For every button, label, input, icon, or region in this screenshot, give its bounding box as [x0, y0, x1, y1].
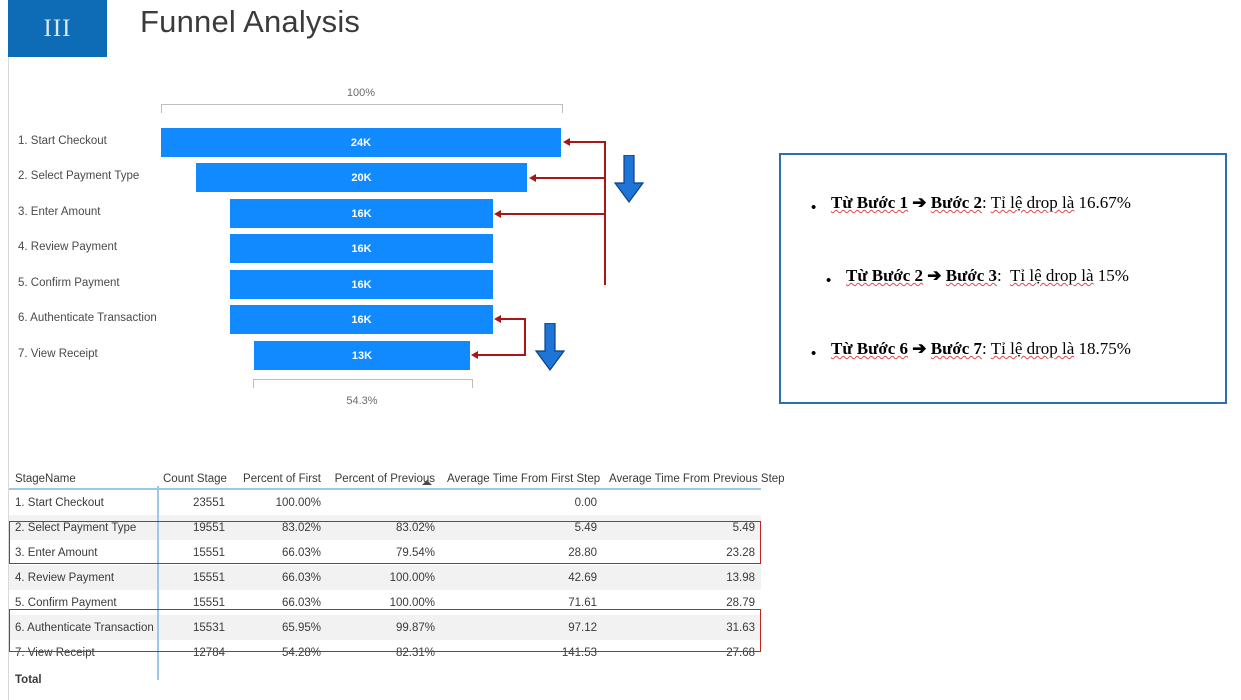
cell-avg-prev: 31.63: [603, 615, 761, 640]
table-row[interactable]: 3. Enter Amount 15551 66.03% 79.54% 28.8…: [9, 540, 761, 565]
insights-callout-box: • Từ Bước 1 ➔ Bước 2: Tỉ lệ drop là 16.6…: [779, 153, 1227, 404]
funnel-stage-label-3: 3. Enter Amount: [18, 206, 100, 218]
cell-avg-first: 141.53: [441, 640, 603, 665]
cell-avg-first: 5.49: [441, 515, 603, 540]
slide-number-label: III: [44, 15, 72, 43]
funnel-bar-value-6: 16K: [351, 314, 371, 326]
cell-total-count: [157, 665, 231, 694]
cell-pct-prev: 79.54%: [327, 540, 441, 565]
funnel-bar-value-7: 13K: [352, 350, 372, 362]
cell-pct-prev: 83.02%: [327, 515, 441, 540]
cell-total-avg-first: [441, 665, 603, 694]
cell-pct-prev: 100.00%: [327, 590, 441, 615]
cell-avg-first: 97.12: [441, 615, 603, 640]
cell-total-pct-prev: [327, 665, 441, 694]
funnel-bar-5[interactable]: 16K: [230, 270, 493, 299]
cell-count: 19551: [157, 515, 231, 540]
funnel-bar-1[interactable]: 24K: [161, 128, 561, 157]
cell-stage: 7. View Receipt: [9, 640, 157, 665]
cell-avg-prev: 27.68: [603, 640, 761, 665]
annotation-arrow-bar-6: [494, 315, 501, 323]
annotation-bracket-2-bot-arm: [478, 354, 526, 356]
funnel-detail-table[interactable]: StageName Count Stage Percent of First P…: [9, 458, 761, 688]
cell-pct-first: 65.95%: [231, 615, 327, 640]
callout-item-2-from: Từ Bước 2: [846, 266, 923, 285]
cell-stage: 3. Enter Amount: [9, 540, 157, 565]
page-title: Funnel Analysis: [140, 4, 360, 40]
callout-item-2-value: 15%: [1098, 266, 1129, 285]
cell-stage: 6. Authenticate Transaction: [9, 615, 157, 640]
cell-total-avg-prev: [603, 665, 761, 694]
cell-pct-first: 83.02%: [231, 515, 327, 540]
funnel-bar-value-3: 16K: [351, 208, 371, 220]
annotation-bracket-1-top-arm: [570, 141, 606, 143]
callout-item-1-from: Từ Bước 1: [831, 193, 908, 212]
annotation-bracket-2-vertical: [524, 319, 526, 356]
table-total-row: Total: [9, 665, 761, 694]
funnel-bar-6[interactable]: 16K: [230, 305, 493, 334]
cell-pct-first: 100.00%: [231, 489, 327, 515]
table-row[interactable]: 4. Review Payment 15551 66.03% 100.00% 4…: [9, 565, 761, 590]
funnel-bottom-measure-label: 54.3%: [253, 395, 471, 407]
funnel-bar-2[interactable]: 20K: [196, 163, 527, 192]
funnel-stage-label-5: 5. Confirm Payment: [18, 277, 120, 289]
callout-item-3-arrow: ➔: [912, 339, 926, 358]
callout-item-2-arrow: ➔: [927, 266, 941, 285]
cell-pct-first: 66.03%: [231, 565, 327, 590]
table-row[interactable]: 5. Confirm Payment 15551 66.03% 100.00% …: [9, 590, 761, 615]
table-column-divider: [157, 486, 159, 680]
stage-metrics-table: StageName Count Stage Percent of First P…: [9, 458, 761, 694]
funnel-top-measure-label: 100%: [161, 87, 561, 99]
cell-pct-prev: 99.87%: [327, 615, 441, 640]
annotation-bracket-1-bot-arm: [501, 213, 606, 215]
cell-pct-prev: 82.31%: [327, 640, 441, 665]
table-row[interactable]: 6. Authenticate Transaction 15531 65.95%…: [9, 615, 761, 640]
cell-pct-first: 66.03%: [231, 540, 327, 565]
funnel-bar-3[interactable]: 16K: [230, 199, 493, 228]
blue-down-arrow-1: [613, 155, 645, 204]
cell-stage: 5. Confirm Payment: [9, 590, 157, 615]
column-header-stagename[interactable]: StageName: [9, 458, 157, 489]
cell-count: 12784: [157, 640, 231, 665]
slide-number-badge: III: [8, 0, 107, 57]
callout-item-1-value: 16.67%: [1079, 193, 1131, 212]
funnel-stage-label-2: 2. Select Payment Type: [18, 170, 139, 182]
funnel-bar-value-2: 20K: [351, 172, 371, 184]
cell-stage: 4. Review Payment: [9, 565, 157, 590]
callout-item-1-rate-label: Tỉ lệ drop là: [991, 193, 1075, 212]
funnel-bar-4[interactable]: 16K: [230, 234, 493, 263]
callout-bullet-2: •: [826, 272, 831, 289]
column-header-avg-time-from-previous-step[interactable]: Average Time From Previous Step: [603, 458, 761, 489]
cell-count: 15551: [157, 565, 231, 590]
callout-item-3-rate-label: Tỉ lệ drop là: [991, 339, 1075, 358]
cell-pct-prev: [327, 489, 441, 515]
cell-avg-first: 42.69: [441, 565, 603, 590]
blue-down-arrow-2: [534, 323, 566, 372]
callout-item-3-from: Từ Bước 6: [831, 339, 908, 358]
funnel-stage-label-7: 7. View Receipt: [18, 348, 98, 360]
callout-item-1: Từ Bước 1 ➔ Bước 2: Tỉ lệ drop là 16.67%: [831, 193, 1131, 213]
callout-item-1-to: Bước 2: [931, 193, 982, 212]
annotation-arrow-bar-2: [529, 174, 536, 182]
funnel-bottom-measure-bracket: [253, 379, 473, 388]
callout-item-3: Từ Bước 6 ➔ Bước 7: Tỉ lệ drop là 18.75%: [831, 339, 1131, 359]
cell-stage: 2. Select Payment Type: [9, 515, 157, 540]
sort-ascending-icon[interactable]: [422, 480, 432, 485]
funnel-bar-value-1: 24K: [351, 137, 371, 149]
column-header-avg-time-from-first-step[interactable]: Average Time From First Step: [441, 458, 603, 489]
callout-item-3-to: Bước 7: [931, 339, 982, 358]
cell-total-pct-first: [231, 665, 327, 694]
annotation-bracket-2-top-arm: [501, 318, 526, 320]
cell-pct-first: 66.03%: [231, 590, 327, 615]
funnel-top-measure-bracket: [161, 104, 563, 113]
callout-bullet-1: •: [811, 199, 816, 216]
cell-avg-first: 71.61: [441, 590, 603, 615]
table-header-row: StageName Count Stage Percent of First P…: [9, 458, 761, 489]
annotation-arrow-bar-3: [494, 210, 501, 218]
table-row[interactable]: 2. Select Payment Type 19551 83.02% 83.0…: [9, 515, 761, 540]
funnel-stage-label-4: 4. Review Payment: [18, 241, 117, 253]
cell-pct-first: 54.28%: [231, 640, 327, 665]
annotation-arrow-bar-7: [471, 351, 478, 359]
cell-count: 15531: [157, 615, 231, 640]
column-header-count-stage[interactable]: Count Stage: [157, 458, 231, 489]
table-row[interactable]: 7. View Receipt 12784 54.28% 82.31% 141.…: [9, 640, 761, 665]
callout-item-2: Từ Bước 2 ➔ Bước 3: Tỉ lệ drop là 15%: [846, 266, 1129, 286]
cell-avg-prev: 5.49: [603, 515, 761, 540]
callout-item-3-value: 18.75%: [1079, 339, 1131, 358]
callout-item-1-arrow: ➔: [912, 193, 926, 212]
funnel-stage-label-6: 6. Authenticate Transaction: [18, 312, 157, 324]
cell-total-label: Total: [9, 665, 157, 694]
annotation-bracket-1-mid-arm: [536, 177, 606, 179]
funnel-stage-label-1: 1. Start Checkout: [18, 135, 107, 147]
cell-avg-first: 0.00: [441, 489, 603, 515]
cell-count: 23551: [157, 489, 231, 515]
annotation-arrow-bar-1: [563, 138, 570, 146]
funnel-bar-value-4: 16K: [351, 243, 371, 255]
callout-bullet-3: •: [811, 345, 816, 362]
callout-item-2-to: Bước 3: [946, 266, 997, 285]
table-row[interactable]: 1. Start Checkout 23551 100.00% 0.00: [9, 489, 761, 515]
cell-avg-prev: 13.98: [603, 565, 761, 590]
cell-pct-prev: 100.00%: [327, 565, 441, 590]
cell-count: 15551: [157, 590, 231, 615]
funnel-chart[interactable]: 100% 1. Start Checkout 2. Select Payment…: [0, 80, 660, 420]
cell-avg-prev: 23.28: [603, 540, 761, 565]
funnel-bar-value-5: 16K: [351, 279, 371, 291]
cell-stage: 1. Start Checkout: [9, 489, 157, 515]
cell-avg-prev: [603, 489, 761, 515]
funnel-bar-7[interactable]: 13K: [254, 341, 470, 370]
callout-item-2-rate-label: Tỉ lệ drop là: [1010, 266, 1094, 285]
cell-avg-first: 28.80: [441, 540, 603, 565]
cell-count: 15551: [157, 540, 231, 565]
cell-avg-prev: 28.79: [603, 590, 761, 615]
column-header-percent-of-first[interactable]: Percent of First: [231, 458, 327, 489]
